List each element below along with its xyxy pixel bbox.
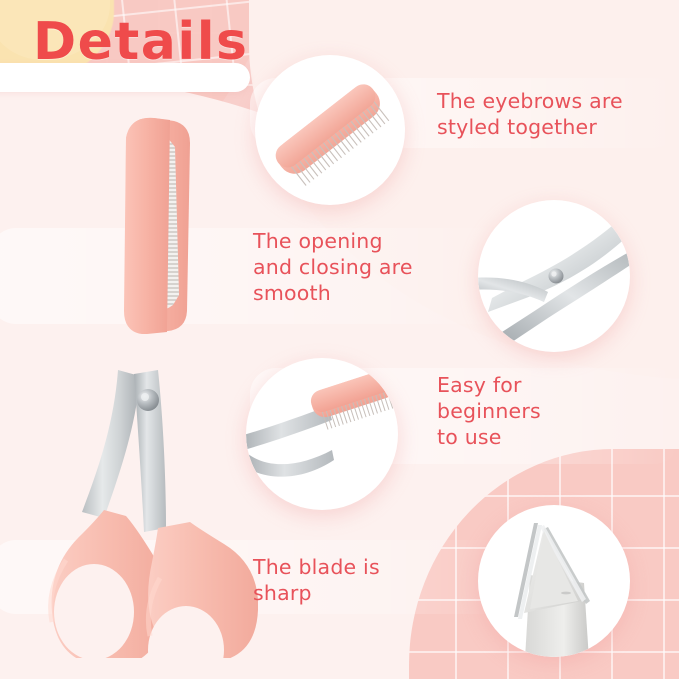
comb-guard-front xyxy=(125,118,170,334)
page-title: Details xyxy=(33,16,248,68)
product-illustration-eyebrow-scissors xyxy=(8,108,258,658)
left-blade-shaft xyxy=(82,370,140,518)
eyebrow-comb-closeup-icon xyxy=(255,55,405,205)
infographic-canvas: Details xyxy=(0,0,679,679)
feature-caption-eyebrows-styled: The eyebrows are styled together xyxy=(437,88,623,140)
feature-circle-eyebrows-styled xyxy=(255,55,405,205)
feature-caption-sharp-blade: The blade is sharp xyxy=(253,554,380,606)
feature-circle-opening-closing xyxy=(478,200,630,352)
pivot-rivet xyxy=(137,389,159,411)
blade-tip-closeup-icon xyxy=(478,505,630,657)
feature-circle-beginner-friendly xyxy=(246,358,398,510)
blade-and-comb-closeup-icon xyxy=(246,358,398,510)
feature-circle-sharp-blade xyxy=(478,505,630,657)
feature-caption-opening-closing: The opening and closing are smooth xyxy=(253,228,413,307)
left-handle-hole xyxy=(54,564,134,658)
pivot-rivet-highlight xyxy=(141,393,149,401)
feature-caption-beginner-friendly: Easy for beginners to use xyxy=(437,372,541,451)
scissor-pivot-closeup-icon xyxy=(478,200,630,352)
